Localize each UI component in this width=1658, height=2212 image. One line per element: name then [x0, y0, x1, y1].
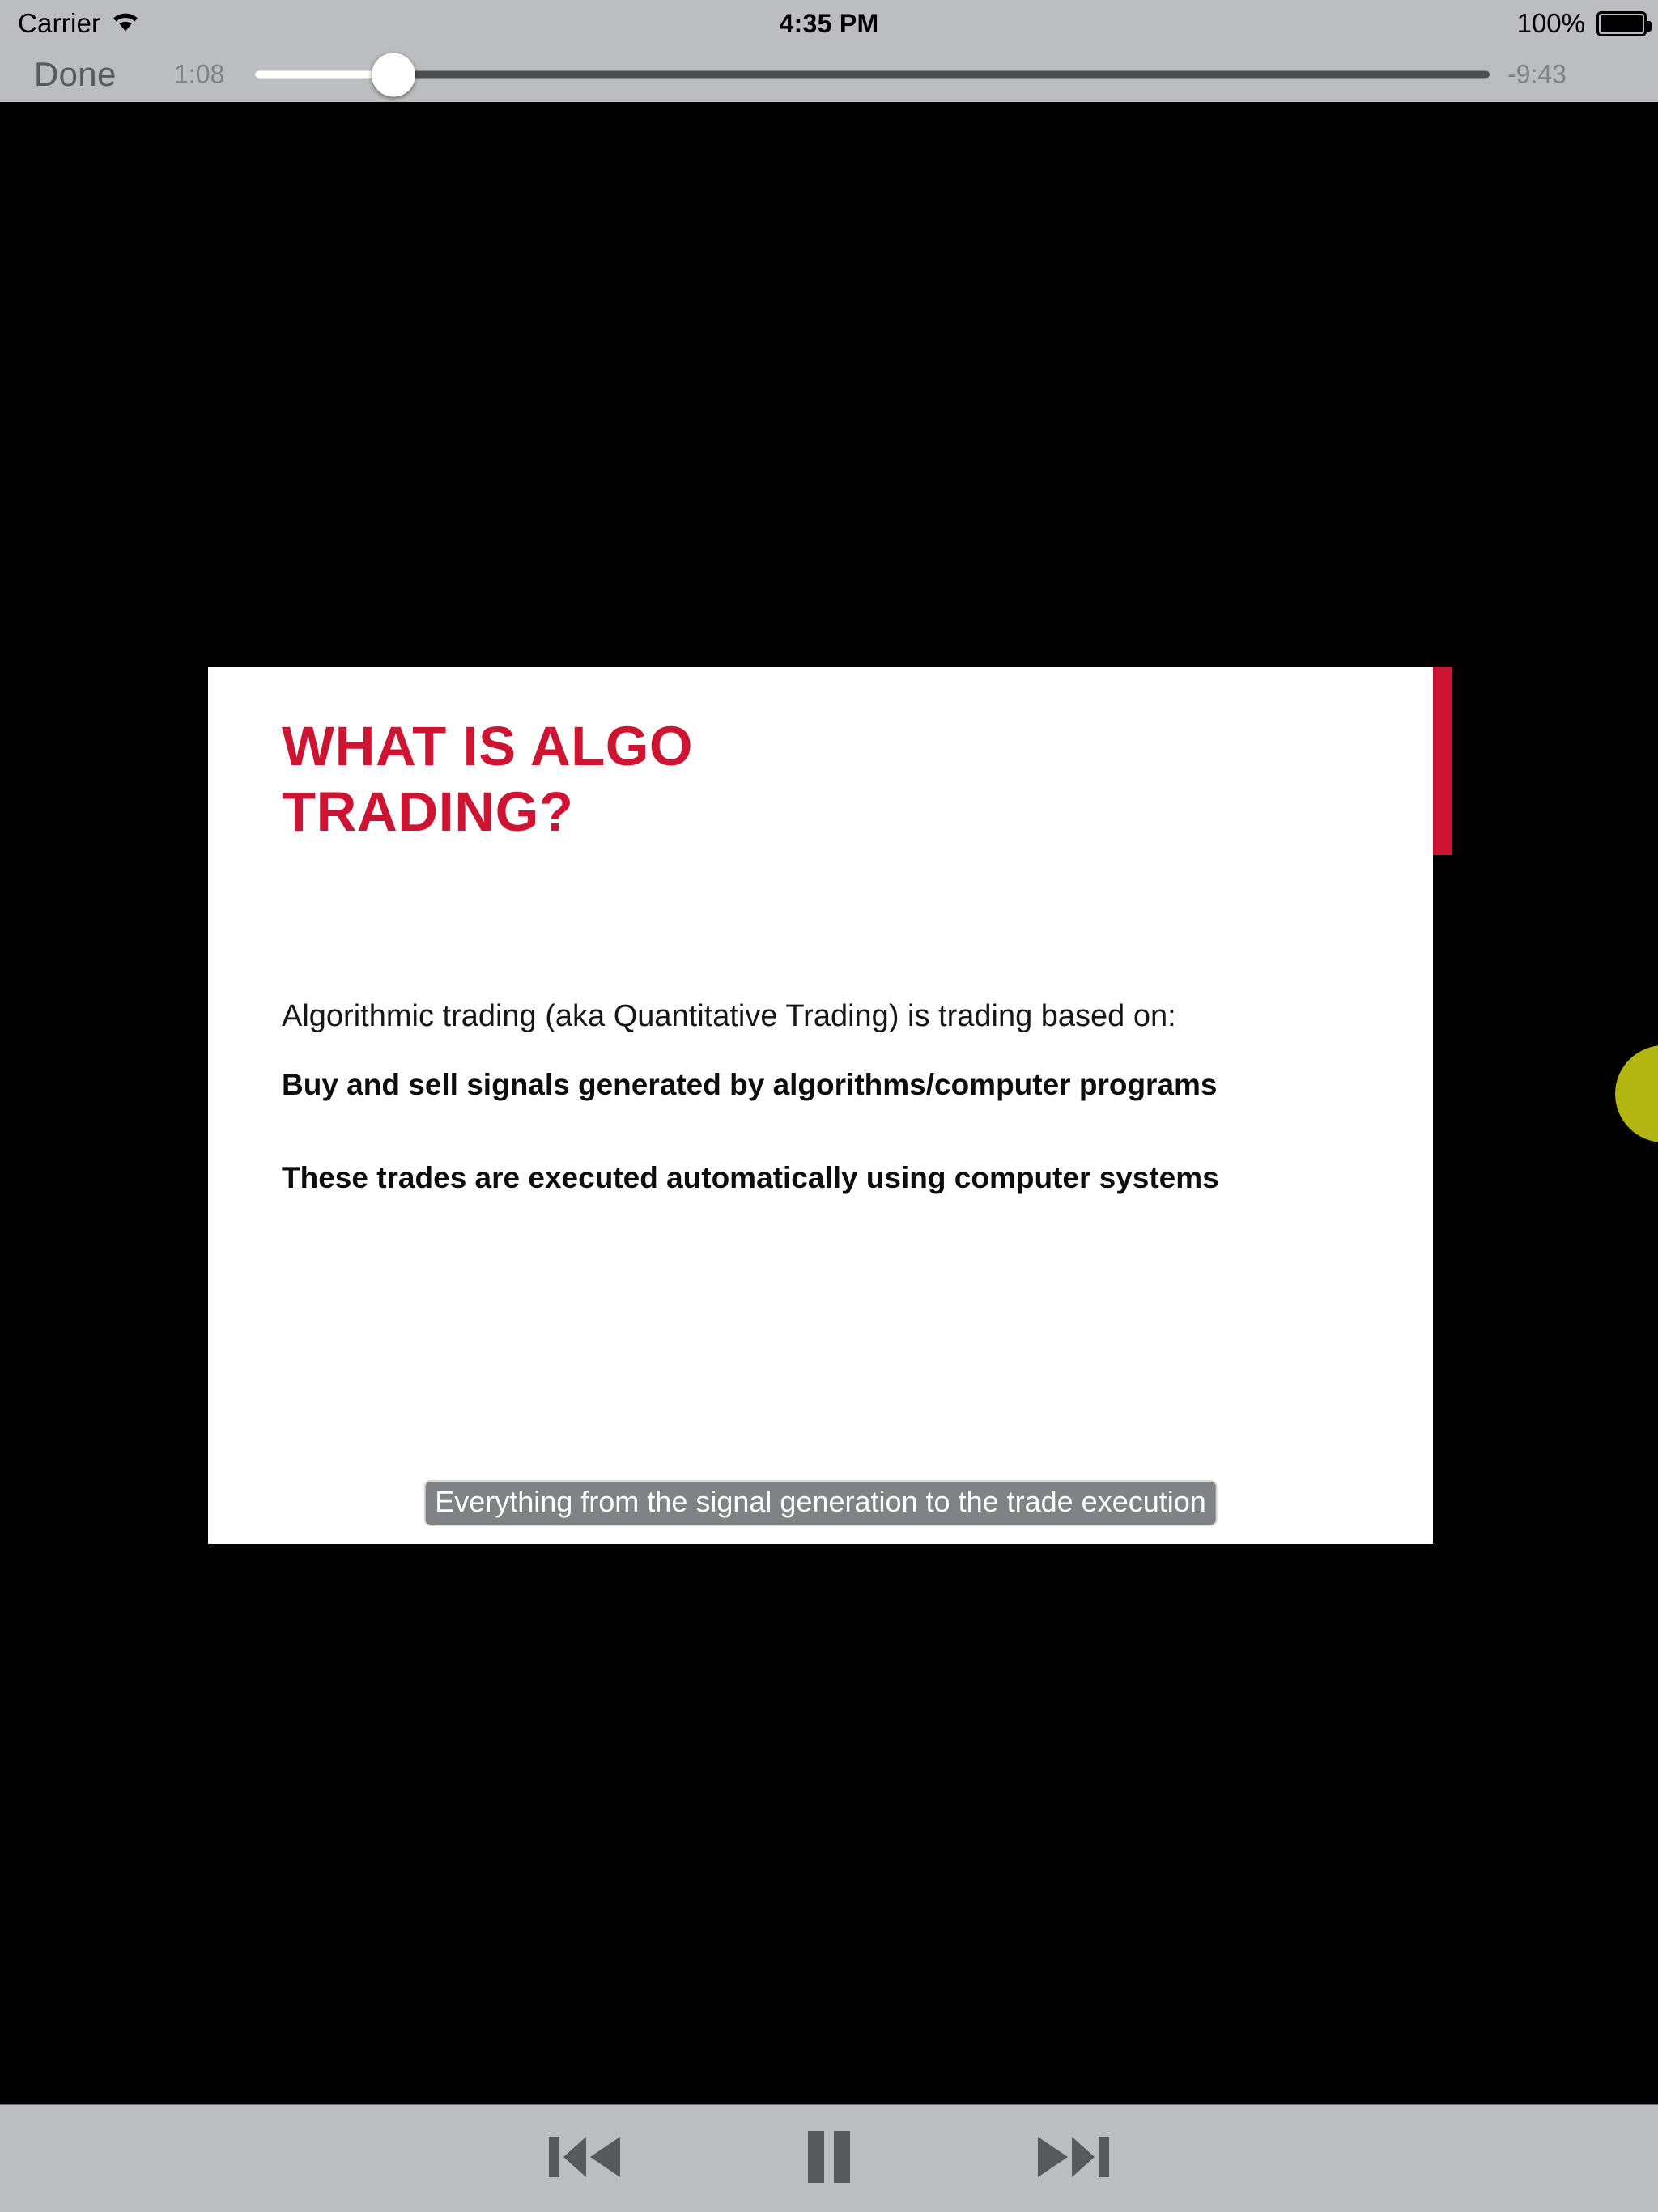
done-button[interactable]: Done — [34, 55, 117, 94]
slide-bullet-1: Buy and sell signals generated by algori… — [282, 1064, 1310, 1105]
pause-icon — [804, 2129, 854, 2189]
slide-caption: Everything from the signal generation to… — [423, 1480, 1218, 1526]
slide-accent-bar — [1433, 667, 1452, 855]
clock-label: 4:35 PM — [779, 9, 878, 39]
slide-title: WHAT IS ALGO TRADING? — [282, 713, 848, 845]
battery-full-icon — [1596, 11, 1647, 36]
scrubber-thumb[interactable] — [372, 53, 415, 96]
playback-scrubber[interactable] — [255, 71, 1490, 79]
status-bar-center: 4:35 PM — [0, 0, 1658, 47]
battery-percent-label: 100% — [1517, 8, 1585, 39]
elapsed-time-label: 1:08 — [174, 60, 224, 90]
next-track-button[interactable] — [1021, 2122, 1126, 2195]
next-track-icon — [1035, 2132, 1112, 2186]
presentation-slide: WHAT IS ALGO TRADING? Algorithmic tradin… — [208, 667, 1433, 1544]
video-surface[interactable]: WHAT IS ALGO TRADING? Algorithmic tradin… — [0, 102, 1658, 2104]
status-bar-right: 100% — [1517, 0, 1647, 47]
previous-track-icon — [546, 2132, 623, 2186]
pause-button[interactable] — [776, 2122, 882, 2195]
previous-track-button[interactable] — [532, 2122, 637, 2195]
slide-lead-text: Algorithmic trading (aka Quantitative Tr… — [282, 996, 1358, 1037]
slide-bullet-2: These trades are executed automatically … — [282, 1157, 1326, 1198]
transport-bar — [0, 2104, 1658, 2212]
status-bar: Carrier 4:35 PM 100% — [0, 0, 1658, 47]
playback-control-bar: Done 1:08 -9:43 — [0, 47, 1658, 102]
remaining-time-label: -9:43 — [1507, 60, 1567, 90]
decorative-circle — [1615, 1045, 1658, 1142]
video-player-screen: Carrier 4:35 PM 100% Done 1:08 — [0, 0, 1658, 2212]
